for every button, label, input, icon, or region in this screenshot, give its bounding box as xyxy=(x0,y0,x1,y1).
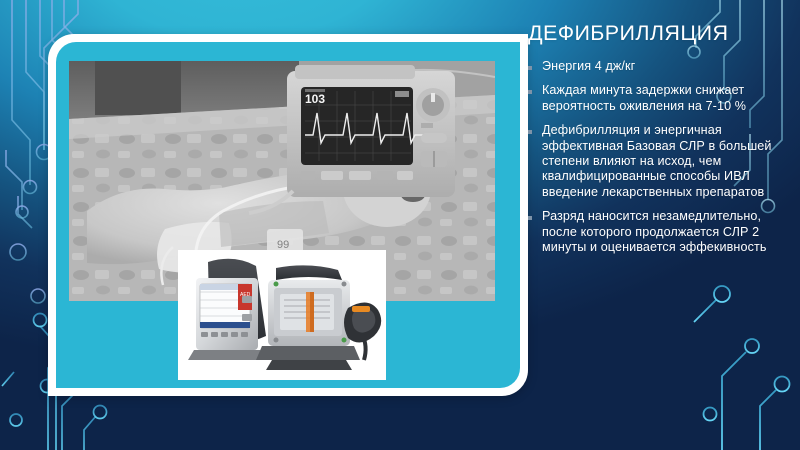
bullet-list: Энергия 4 дж/кг Каждая минута задержки с… xyxy=(524,59,792,255)
list-item: Энергия 4 дж/кг xyxy=(524,59,792,74)
list-item: Разряд наносится незамедлительно, после … xyxy=(524,209,792,255)
content-panel: 99 103 xyxy=(48,34,528,396)
slide-canvas: 99 103 xyxy=(0,0,800,450)
bullet-marker-icon xyxy=(528,130,532,134)
bullet-marker-icon xyxy=(528,90,532,94)
list-item-label: Дефибрилляция и энергичная эффективная Б… xyxy=(542,123,792,200)
list-item-label: Каждая минута задержки снижает вероятнос… xyxy=(542,83,792,114)
list-item: Дефибрилляция и энергичная эффективная Б… xyxy=(524,123,792,200)
list-item: Каждая минута задержки снижает вероятнос… xyxy=(524,83,792,114)
page-title: ДЕФИБРИЛЛЯЦИЯ xyxy=(524,22,792,45)
list-item-label: Энергия 4 дж/кг xyxy=(542,59,635,74)
portable-defibrillator-photo: AED xyxy=(178,250,386,380)
content-panel-inner: 99 103 xyxy=(56,42,520,388)
list-item-label: Разряд наносится незамедлительно, после … xyxy=(542,209,792,255)
monitor-reading-value: 103 xyxy=(305,92,325,106)
bullet-marker-icon xyxy=(528,216,532,220)
text-content-column: ДЕФИБРИЛЛЯЦИЯ Энергия 4 дж/кг Каждая мин… xyxy=(524,22,792,422)
bullet-marker-icon xyxy=(528,66,532,70)
